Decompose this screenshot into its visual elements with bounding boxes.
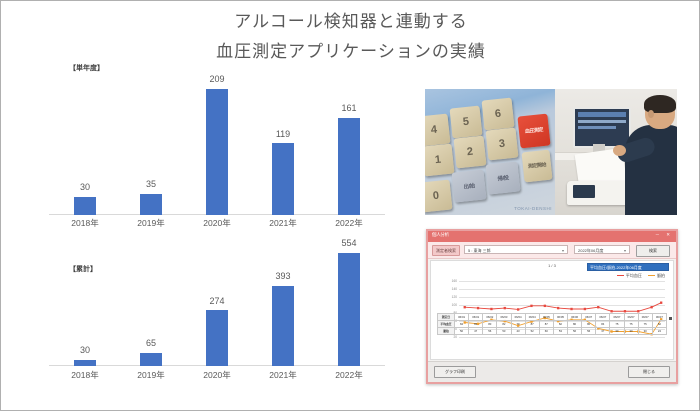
category-label: 2020年 <box>187 217 247 229</box>
key-label: 帰/投 <box>487 172 520 183</box>
cell: 75 <box>638 321 652 328</box>
keypad-key-end: 帰/投 <box>486 161 521 194</box>
bar-value-label: 393 <box>253 271 313 281</box>
workplace-photo <box>555 89 677 215</box>
cell: 79 <box>511 321 525 328</box>
cell: 75 <box>610 321 624 328</box>
cell: 82 <box>469 321 483 328</box>
row-header: 平均血圧 <box>438 321 455 328</box>
cell: 06/02 <box>483 314 497 321</box>
print-graph-button[interactable]: グラフ印刷 <box>434 366 476 378</box>
cell: 06/05 <box>553 314 567 321</box>
cell: 84 <box>455 321 469 328</box>
cell: 53 <box>553 328 567 335</box>
key-label: 出/始 <box>453 180 486 191</box>
cell: 06/04 <box>525 314 539 321</box>
window-caption: 個人分析 <box>432 232 449 238</box>
y-tick-label: 120 <box>445 295 457 299</box>
keypad-key-2: 2 <box>454 136 487 169</box>
key-label: 測定開始 <box>523 162 551 171</box>
bar <box>140 194 162 215</box>
category-label: 2022年 <box>319 217 379 229</box>
cell: 84 <box>596 321 610 328</box>
bar-column: 119 <box>261 89 305 215</box>
bar-column: 161 <box>327 89 371 215</box>
series-line-average-bp <box>465 303 661 312</box>
keypad-key-1: 1 <box>425 144 454 177</box>
key-label: 血圧測定 <box>519 126 549 135</box>
keypad-key-0: 0 <box>425 180 452 213</box>
row-header: 脈拍 <box>438 328 455 335</box>
title-line-1: アルコール検知器と連動する <box>121 7 581 37</box>
window-footer: グラフ印刷 閉じる <box>428 361 676 382</box>
cell: 82 <box>652 321 666 328</box>
bar-column: 65 <box>129 253 173 366</box>
row-header: 測定日 <box>438 314 455 321</box>
cell: 24 <box>652 328 666 335</box>
photo-watermark: TOKAI-DENSHI <box>514 206 552 211</box>
bar <box>272 143 294 215</box>
cell: 30 <box>638 328 652 335</box>
cell: 06/07 <box>652 314 666 321</box>
cell: 87 <box>539 321 553 328</box>
key-label: 2 <box>454 144 485 159</box>
cell: 06/04 <box>511 314 525 321</box>
category-label: 2018年 <box>55 217 115 229</box>
cell: 06/03 <box>497 314 511 321</box>
bar <box>338 253 360 366</box>
window-controls[interactable]: ─ ✕ <box>656 232 673 238</box>
key-label: 6 <box>482 106 513 121</box>
bar-value-label: 30 <box>55 182 115 192</box>
keypad-key-6: 6 <box>482 98 515 131</box>
chevron-down-icon: ▾ <box>624 246 626 255</box>
bar-column: 393 <box>261 253 305 366</box>
bar-column: 554 <box>327 253 371 366</box>
bar-column: 209 <box>195 89 239 215</box>
keypad-key-5: 5 <box>450 106 483 139</box>
bar-value-label: 35 <box>121 179 181 189</box>
cell: 30 <box>610 328 624 335</box>
y-tick-label: 20 <box>445 335 457 339</box>
bar <box>338 118 360 215</box>
keypad-key-blood-pressure: 血圧測定 <box>517 114 550 149</box>
cell: 06/07 <box>638 314 652 321</box>
data-table: 測定日 06/01 06/01 06/02 06/03 06/04 06/04 … <box>437 313 667 335</box>
bar-value-label: 209 <box>187 74 247 84</box>
mode-button[interactable]: 測定者検索 <box>432 245 460 256</box>
cell: 56 <box>582 328 596 335</box>
bar <box>140 353 162 366</box>
cell: 06/01 <box>469 314 483 321</box>
cell: 82 <box>497 321 511 328</box>
category-label: 2019年 <box>121 217 181 229</box>
period-select-value: 2022年06月度 <box>578 248 603 253</box>
bar-value-label: 65 <box>121 338 181 348</box>
chart-cumulative: 【累計】 30 65 274 393 554 <box>39 251 389 393</box>
cell: 30 <box>624 328 638 335</box>
cell: 06/01 <box>455 314 469 321</box>
cell: 80 <box>582 321 596 328</box>
cell: 82 <box>553 321 567 328</box>
keypad-key-3: 3 <box>486 128 519 161</box>
bar <box>206 89 228 215</box>
cell: 43 <box>511 328 525 335</box>
category-label: 2021年 <box>253 369 313 381</box>
chart-annual-title: 【単年度】 <box>69 63 104 73</box>
bar <box>74 360 96 366</box>
table-row: 平均血圧 84 82 80 82 79 87 87 82 80 80 84 75… <box>438 321 667 328</box>
person-select[interactable]: 5 : 東海 三郎 ▾ <box>464 245 568 254</box>
bar <box>272 286 294 366</box>
category-label: 2019年 <box>121 369 181 381</box>
cell: 50 <box>455 328 469 335</box>
keypad-key-start: 出/始 <box>452 169 487 202</box>
bar-column: 35 <box>129 89 173 215</box>
chart-cumulative-plot: 30 65 274 393 554 <box>49 253 385 366</box>
cell: 06/07 <box>610 314 624 321</box>
cell: 06/07 <box>624 314 638 321</box>
cell: 06/05 <box>539 314 553 321</box>
cell: 87 <box>525 321 539 328</box>
y-tick-label: 140 <box>445 287 457 291</box>
period-select[interactable]: 2022年06月度 ▾ <box>574 245 630 254</box>
key-label: 0 <box>425 188 452 203</box>
bar-column: 30 <box>63 253 107 366</box>
person-figure <box>623 95 677 215</box>
cell: 60 <box>539 328 553 335</box>
chevron-down-icon: ▾ <box>562 246 564 255</box>
cell: 56 <box>483 328 497 335</box>
category-label: 2020年 <box>187 369 247 381</box>
keypad-key-measure: 測定開始 <box>522 150 553 183</box>
window-body: 1 / 3 平均血圧/脈拍-2022年06月度 平均血圧 脈拍 160 140 <box>430 260 674 360</box>
cell: 80 <box>568 321 582 328</box>
chart-annual: 【単年度】 30 35 209 119 161 <box>39 63 389 231</box>
key-label: 5 <box>450 114 481 129</box>
keypad-photo: 4 5 6 1 2 3 血圧測定 測定開始 出/始 帰/投 0 TOKAI-DE… <box>425 89 555 215</box>
category-label: 2021年 <box>253 217 313 229</box>
close-button[interactable]: 閉じる <box>628 366 670 378</box>
bar-value-label: 30 <box>55 345 115 355</box>
measuring-device <box>567 181 629 205</box>
table-row: 脈拍 50 47 56 53 43 52 60 53 56 56 37 30 3… <box>438 328 667 335</box>
key-label: 3 <box>486 136 517 151</box>
cell: 47 <box>469 328 483 335</box>
key-label: 1 <box>425 152 454 167</box>
bar-value-label: 161 <box>319 103 379 113</box>
presentation-slide: アルコール検知器と連動する 血圧測定アプリケーションの実績 【単年度】 30 3… <box>0 0 700 411</box>
bar-value-label: 274 <box>187 296 247 306</box>
bar-column: 274 <box>195 253 239 366</box>
key-label: 4 <box>425 122 450 137</box>
y-tick-label: 100 <box>445 303 457 307</box>
category-label: 2022年 <box>319 369 379 381</box>
cell: 56 <box>568 328 582 335</box>
cell: 52 <box>525 328 539 335</box>
category-label: 2018年 <box>55 369 115 381</box>
bar-value-label: 554 <box>319 238 379 248</box>
page-title: アルコール検知器と連動する 血圧測定アプリケーションの実績 <box>121 7 581 67</box>
device-photo: 4 5 6 1 2 3 血圧測定 測定開始 出/始 帰/投 0 TOKAI-DE… <box>425 89 677 215</box>
y-tick-label: 160 <box>445 279 457 283</box>
cell: 53 <box>497 328 511 335</box>
graph-select-value: 平均血圧/脈拍-2022年06月度 <box>590 265 642 270</box>
chart-annual-plot: 30 35 209 119 161 <box>49 89 385 215</box>
graph-select[interactable]: 平均血圧/脈拍-2022年06月度 <box>587 263 669 271</box>
cell: 75 <box>624 321 638 328</box>
cell: 06/07 <box>596 314 610 321</box>
application-window: 個人分析 ─ ✕ 測定者検索 5 : 東海 三郎 ▾ 2022年06月度 ▾ 検… <box>426 229 678 384</box>
cell: 37 <box>596 328 610 335</box>
cell: 06/06 <box>568 314 582 321</box>
toolbar: 測定者検索 5 : 東海 三郎 ▾ 2022年06月度 ▾ 検索 <box>428 242 676 259</box>
bar <box>206 310 228 366</box>
cell: 06/07 <box>582 314 596 321</box>
window-title-bar: 個人分析 ─ ✕ <box>428 231 676 242</box>
scroll-marker[interactable] <box>669 317 672 320</box>
person-select-value: 5 : 東海 三郎 <box>468 248 491 253</box>
bar-value-label: 119 <box>253 129 313 139</box>
bar <box>74 197 96 215</box>
search-button[interactable]: 検索 <box>636 245 670 257</box>
table-row: 測定日 06/01 06/01 06/02 06/03 06/04 06/04 … <box>438 314 667 321</box>
bar-column: 30 <box>63 89 107 215</box>
keypad-key-4: 4 <box>425 114 450 147</box>
cell: 80 <box>483 321 497 328</box>
